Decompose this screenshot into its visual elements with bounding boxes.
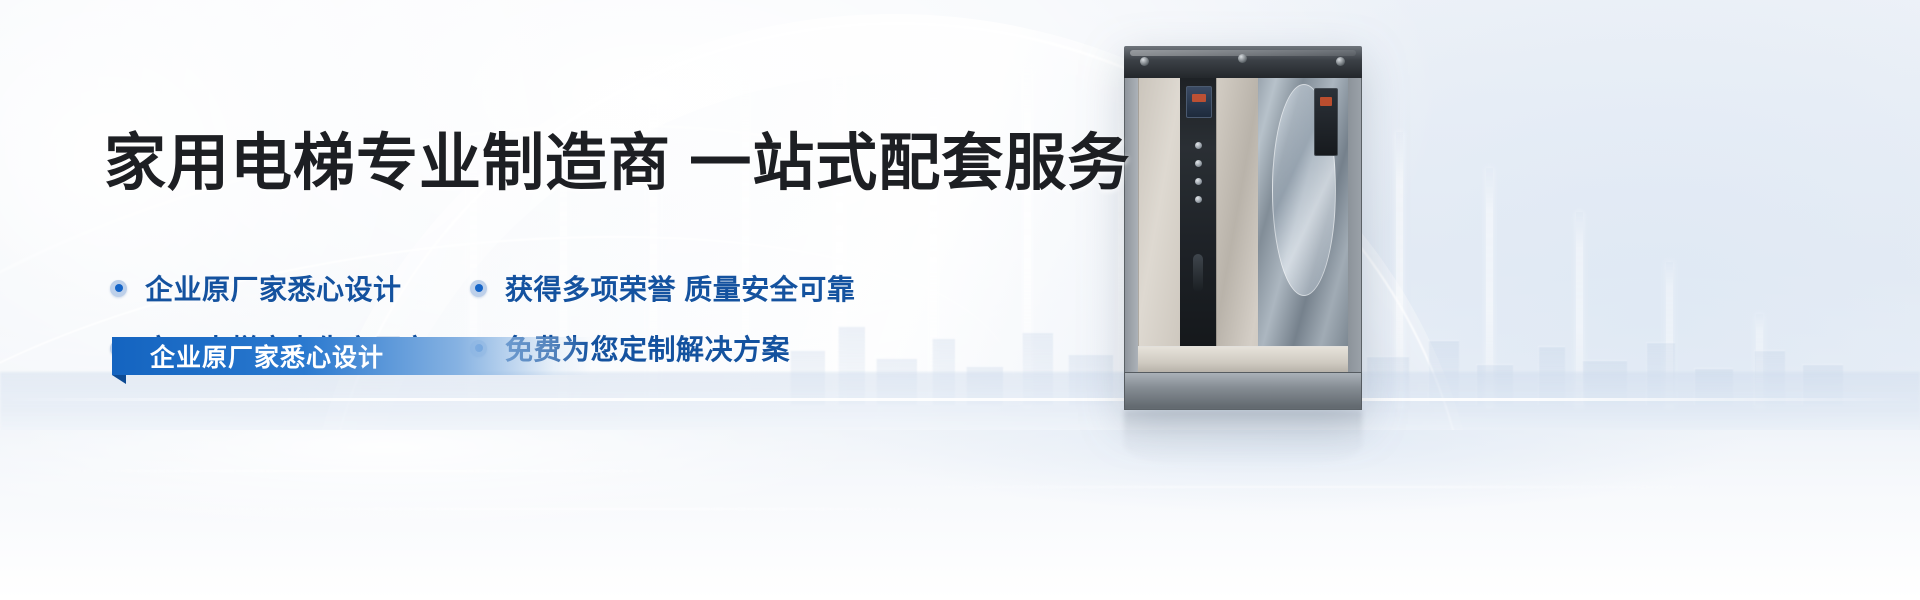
feature-row: 企业原厂家悉心设计 获得多项荣誉 质量安全可靠 — [110, 258, 970, 318]
feature-label: 企业原厂家悉心设计 — [145, 268, 402, 308]
bullet-dot-icon — [470, 280, 487, 297]
ribbon-fold-corner — [112, 375, 126, 384]
highlight-ribbon: 企业原厂家悉心设计 — [112, 337, 592, 375]
feature-item-honors: 获得多项荣誉 质量安全可靠 — [470, 268, 930, 308]
ribbon-label: 企业原厂家悉心设计 — [150, 338, 384, 374]
banner-content: 家用电梯专业制造商 一站式配套服务 企业原厂家悉心设计 获得多项荣誉 质量安全可… — [0, 0, 1920, 600]
page-title: 家用电梯专业制造商 一站式配套服务 — [104, 112, 1130, 202]
feature-label: 获得多项荣誉 质量安全可靠 — [505, 268, 855, 308]
bullet-dot-icon — [110, 280, 127, 297]
feature-item-design: 企业原厂家悉心设计 — [110, 268, 470, 308]
promo-banner: 家用电梯专业制造商 一站式配套服务 企业原厂家悉心设计 获得多项荣誉 质量安全可… — [0, 0, 1920, 600]
